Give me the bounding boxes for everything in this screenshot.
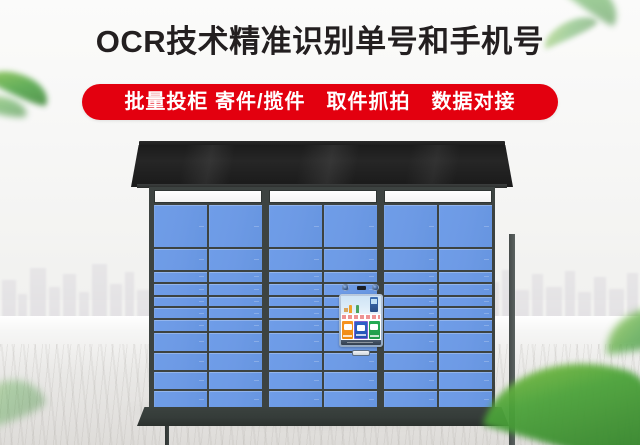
bay-header-panel bbox=[269, 190, 377, 203]
deposit-tile-label bbox=[343, 335, 352, 337]
locker-door[interactable] bbox=[154, 205, 207, 247]
locker-door[interactable] bbox=[324, 372, 377, 389]
locker-door[interactable] bbox=[439, 272, 492, 283]
locker-door[interactable] bbox=[269, 272, 322, 283]
locker-door[interactable] bbox=[269, 297, 322, 307]
locker-door[interactable] bbox=[324, 391, 377, 408]
locker-body bbox=[149, 187, 495, 410]
locker-door[interactable] bbox=[384, 297, 437, 307]
locker-door[interactable] bbox=[209, 205, 262, 247]
ship-box-icon bbox=[370, 324, 378, 330]
locker-door[interactable] bbox=[269, 249, 322, 269]
pickup-box-icon bbox=[357, 325, 365, 331]
locker-door[interactable] bbox=[384, 272, 437, 283]
page-title: OCR技术精准识别单号和手机号 bbox=[0, 23, 640, 61]
bay-header-panel bbox=[154, 190, 262, 203]
locker-door[interactable] bbox=[154, 249, 207, 269]
locker-door[interactable] bbox=[384, 249, 437, 269]
locker-door[interactable] bbox=[269, 353, 322, 370]
screen-ship-tile[interactable] bbox=[369, 321, 380, 339]
locker-door[interactable] bbox=[384, 333, 437, 352]
promo-banner: OCR技术精准识别单号和手机号 批量投柜 寄件/揽件 取件抓拍 数据对接 bbox=[0, 0, 640, 445]
canopy-highlight bbox=[131, 145, 513, 187]
banner-parcel-icon bbox=[344, 308, 348, 312]
locker-door[interactable] bbox=[269, 333, 322, 352]
terminal-touchscreen[interactable] bbox=[341, 296, 381, 345]
screen-deposit-tile[interactable] bbox=[342, 321, 353, 339]
banner-kiosk-icon bbox=[370, 297, 378, 312]
locker-door[interactable] bbox=[439, 391, 492, 408]
bay-door-grid bbox=[154, 205, 262, 408]
locker-door[interactable] bbox=[439, 320, 492, 331]
terminal-sensor-row bbox=[341, 283, 381, 292]
locker-door[interactable] bbox=[384, 372, 437, 389]
locker-door[interactable] bbox=[384, 391, 437, 408]
locker-door[interactable] bbox=[209, 372, 262, 389]
locker-door[interactable] bbox=[154, 333, 207, 352]
locker-door[interactable] bbox=[384, 205, 437, 247]
terminal-screen-bezel bbox=[339, 294, 383, 347]
feature-pill-label: 批量投柜 寄件/揽件 取件抓拍 数据对接 bbox=[82, 84, 558, 120]
locker-door[interactable] bbox=[209, 272, 262, 283]
bay-door-column bbox=[269, 205, 322, 408]
locker-door[interactable] bbox=[324, 249, 377, 269]
locker-door[interactable] bbox=[209, 391, 262, 408]
banner-person-one-icon bbox=[349, 305, 352, 313]
locker-door[interactable] bbox=[384, 308, 437, 318]
screen-banner-illustration bbox=[341, 296, 381, 314]
locker-door[interactable] bbox=[154, 297, 207, 307]
smart-locker-cabinet bbox=[131, 141, 513, 426]
locker-door[interactable] bbox=[209, 284, 262, 295]
locker-door[interactable] bbox=[384, 320, 437, 331]
locker-door[interactable] bbox=[154, 272, 207, 283]
locker-door[interactable] bbox=[154, 320, 207, 331]
locker-door[interactable] bbox=[269, 308, 322, 318]
bay-door-column bbox=[384, 205, 437, 408]
locker-door[interactable] bbox=[439, 372, 492, 389]
locker-terminal[interactable] bbox=[339, 283, 383, 357]
locker-door[interactable] bbox=[439, 249, 492, 269]
screen-caption-text bbox=[342, 315, 380, 319]
locker-door[interactable] bbox=[209, 297, 262, 307]
locker-door[interactable] bbox=[439, 205, 492, 247]
locker-door[interactable] bbox=[324, 205, 377, 247]
feature-pill-badge: 批量投柜 寄件/揽件 取件抓拍 数据对接 bbox=[82, 84, 558, 120]
locker-door[interactable] bbox=[384, 353, 437, 370]
bay-door-column bbox=[154, 205, 207, 408]
locker-door[interactable] bbox=[269, 391, 322, 408]
locker-door[interactable] bbox=[154, 353, 207, 370]
locker-door[interactable] bbox=[269, 372, 322, 389]
locker-door[interactable] bbox=[209, 308, 262, 318]
locker-door[interactable] bbox=[154, 308, 207, 318]
screen-status-bar bbox=[341, 340, 381, 345]
locker-door[interactable] bbox=[209, 320, 262, 331]
locker-door[interactable] bbox=[269, 205, 322, 247]
bay-door-grid bbox=[384, 205, 492, 408]
deposit-box-icon bbox=[344, 324, 352, 330]
barcode-scanner-icon bbox=[357, 286, 366, 290]
locker-plinth bbox=[137, 407, 509, 426]
card-reader-slot-icon[interactable] bbox=[352, 350, 370, 356]
screen-action-tiles bbox=[342, 321, 380, 339]
locker-door[interactable] bbox=[439, 284, 492, 295]
locker-door[interactable] bbox=[209, 353, 262, 370]
locker-door[interactable] bbox=[154, 391, 207, 408]
locker-door[interactable] bbox=[154, 284, 207, 295]
locker-door[interactable] bbox=[154, 372, 207, 389]
bay-door-column bbox=[209, 205, 262, 408]
pickup-tile-label bbox=[356, 334, 365, 336]
locker-bay-left bbox=[151, 187, 265, 410]
locker-door[interactable] bbox=[439, 353, 492, 370]
locker-door[interactable] bbox=[324, 272, 377, 283]
locker-door[interactable] bbox=[439, 308, 492, 318]
locker-door[interactable] bbox=[269, 284, 322, 295]
bay-door-column bbox=[439, 205, 492, 408]
locker-door[interactable] bbox=[209, 249, 262, 269]
locker-door[interactable] bbox=[209, 333, 262, 352]
locker-door[interactable] bbox=[384, 284, 437, 295]
camera-right-icon bbox=[372, 284, 379, 291]
ship-tile-label bbox=[370, 335, 379, 337]
locker-canopy bbox=[131, 141, 513, 187]
locker-door[interactable] bbox=[439, 333, 492, 352]
screen-pickup-tile[interactable] bbox=[354, 321, 367, 339]
locker-bay-right bbox=[381, 187, 495, 410]
camera-left-icon bbox=[342, 284, 349, 291]
bay-header-panel bbox=[384, 190, 492, 203]
locker-door[interactable] bbox=[439, 297, 492, 307]
locker-door[interactable] bbox=[269, 320, 322, 331]
banner-person-two-icon bbox=[356, 305, 359, 313]
